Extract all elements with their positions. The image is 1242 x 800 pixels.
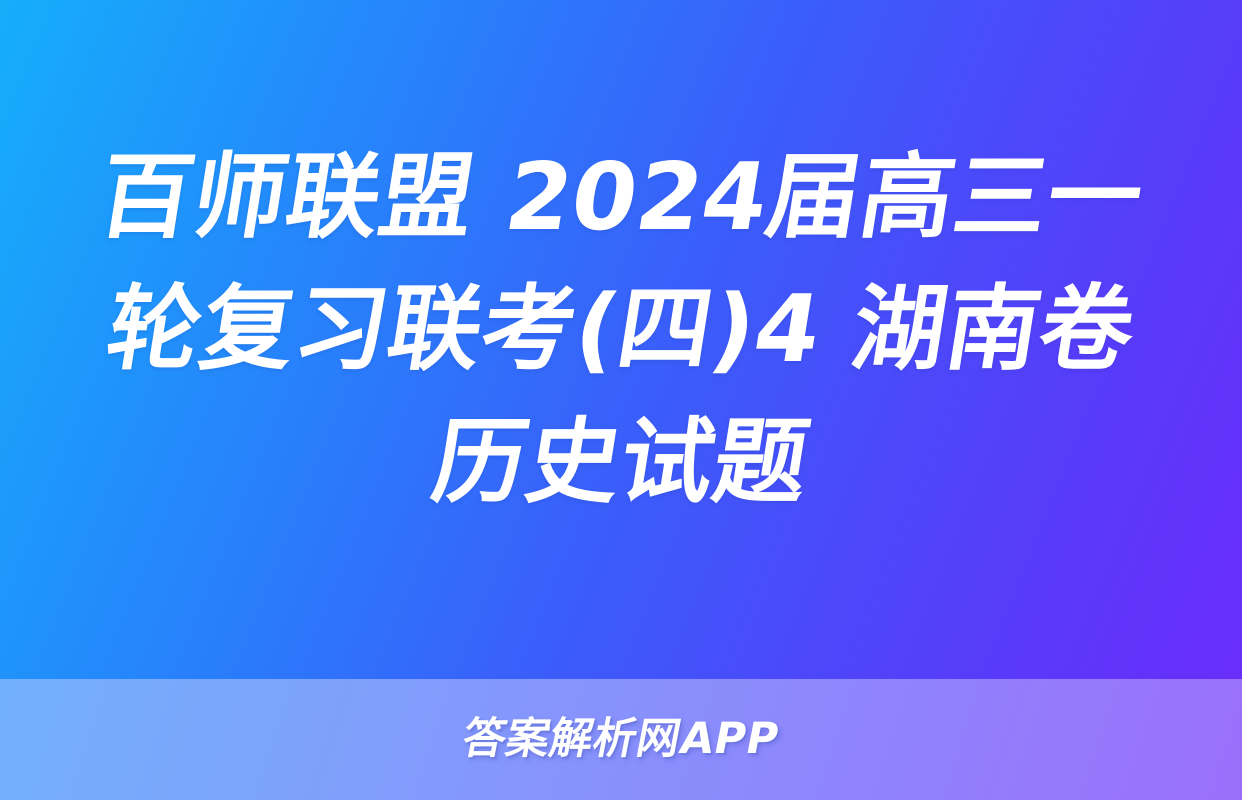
page-title-line-2: 轮复习联考(四)4 湖南卷 [48, 263, 1195, 395]
exam-paper-cover-poster: 百师联盟 2024届高三一 轮复习联考(四)4 湖南卷 历史试题 答案解析网AP… [0, 0, 1242, 800]
watermark-bar: 答案解析网APP [0, 679, 1242, 800]
title-block: 百师联盟 2024届高三一 轮复习联考(四)4 湖南卷 历史试题 [0, 0, 1242, 679]
app-watermark-label: 答案解析网APP [459, 718, 783, 761]
page-title-line-3: 历史试题 [48, 396, 1195, 528]
page-title-line-1: 百师联盟 2024届高三一 [48, 131, 1195, 263]
